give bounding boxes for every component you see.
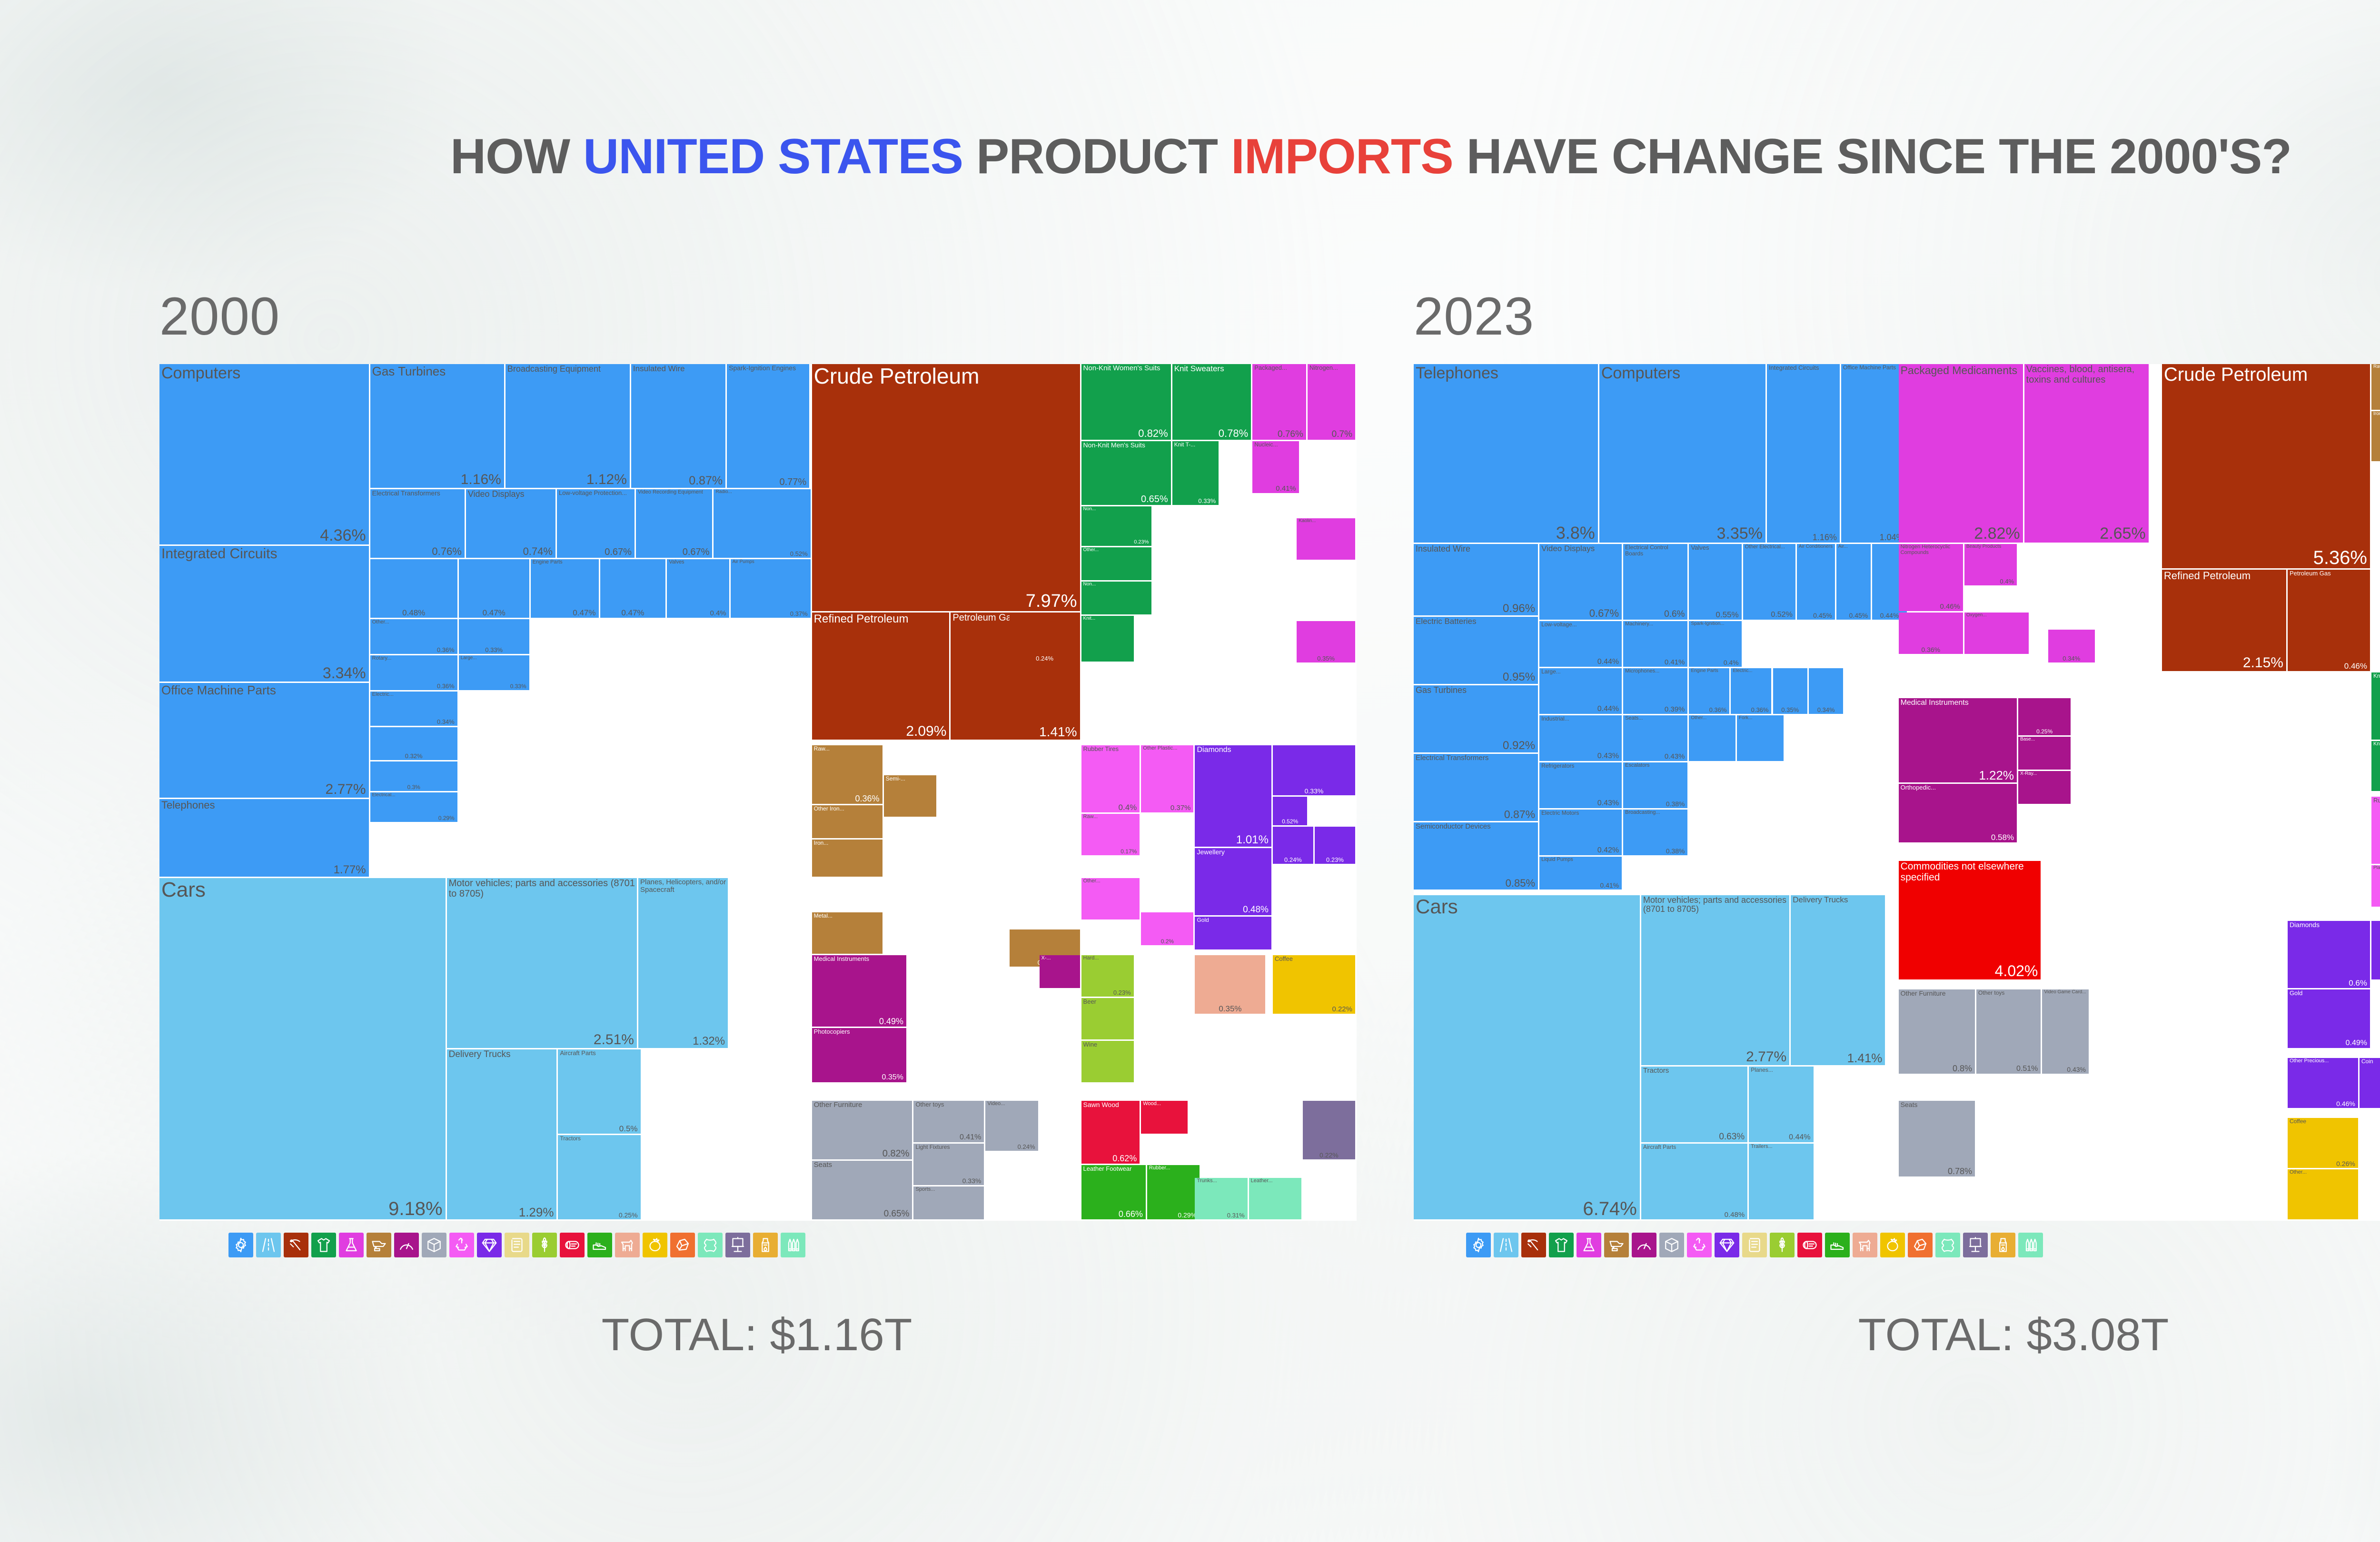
treemap-cell[interactable]: Medical Instruments1.22% — [1899, 698, 2017, 782]
treemap-cell-value: 0.76% — [1252, 430, 1303, 439]
treemap-cell[interactable]: Nitrogen...0.7% — [1308, 364, 1355, 440]
treemap-cell-label: Electrical Transformers — [372, 490, 463, 497]
treemap-cell[interactable]: Refined Petroleum2.09% — [812, 613, 950, 740]
bullets-icon[interactable] — [781, 1233, 805, 1257]
treemap-cell-label: Photocopiers — [814, 1028, 905, 1035]
treemap-cell[interactable]: Video Recording Equipment0.67% — [636, 489, 712, 558]
treemap-cell[interactable]: Integrated Circuits3.34% — [159, 546, 369, 682]
treemap-cell[interactable]: Non-Knit Women's Suits0.82% — [1081, 364, 1171, 440]
treemap-cell[interactable]: Other...0.36% — [370, 619, 457, 654]
treemap-cell[interactable]: Large...0.44% — [1539, 668, 1622, 714]
treemap-cell[interactable]: Other toys0.41% — [913, 1101, 984, 1142]
treemap-cell-label: Insulated Wire — [633, 365, 724, 373]
treemap-cell-label: Electrical Control Boards — [1625, 544, 1686, 557]
treemap-cell-value: 0.48% — [1641, 1211, 1745, 1218]
treemap-cell[interactable]: Non...0.23% — [1081, 506, 1152, 546]
easel-icon[interactable] — [725, 1233, 750, 1257]
treemap-cell[interactable]: 0.43% — [2371, 921, 2380, 979]
treemap-cell[interactable]: Other toys0.51% — [1976, 989, 2041, 1074]
treemap-cell[interactable]: 0.36% — [1899, 613, 1963, 654]
treemap-cell-label: Raw... — [2373, 365, 2380, 370]
treemap-cell-label: Sports... — [915, 1187, 982, 1193]
treemap-cell[interactable]: Motor vehicles; parts and accessories (8… — [1641, 895, 1789, 1065]
treemap-cell-label: Oxygen... — [1966, 613, 2027, 618]
bottle-icon[interactable] — [753, 1233, 778, 1257]
treemap-cell[interactable]: Crude Petroleum5.36% — [2162, 364, 2370, 568]
treemap-cell-value: 0.45% — [1797, 612, 1832, 619]
treemap-cell[interactable]: Seats0.78% — [1899, 1101, 1975, 1176]
bottle-icon[interactable] — [1991, 1233, 2015, 1257]
treemap-cell-value: 0.58% — [1899, 833, 2014, 841]
treemap-cell[interactable]: Tractors0.63% — [1641, 1067, 1747, 1142]
treemap-cell[interactable]: Knit T-...0.33% — [1172, 441, 1219, 505]
treemap-cell[interactable]: Other Iron... — [812, 805, 883, 838]
treemap-cell[interactable]: Beauty Products0.4% — [1964, 544, 2017, 585]
box-icon[interactable] — [422, 1233, 446, 1257]
treemap-cell[interactable]: Hard...0.23% — [1081, 955, 1134, 997]
treemap-cell[interactable]: X-... — [1040, 955, 1080, 988]
treemap-cell[interactable]: Knit T-...0.22% — [2371, 741, 2380, 791]
treemap-cell[interactable]: Engine Parts0.47% — [531, 559, 599, 618]
treemap-cell-value: 0.39% — [1623, 706, 1685, 713]
leather-icon[interactable] — [698, 1233, 723, 1257]
wheat-icon[interactable] — [532, 1233, 557, 1257]
treemap-cell-value: 0.23% — [2371, 900, 2380, 906]
treemap-cell-value: 0.36% — [1689, 707, 1726, 713]
treemap-cell-label: Machinery... — [1625, 622, 1686, 627]
treemap-cell[interactable]: X-Ray... — [2018, 771, 2071, 804]
treemap-cell[interactable]: Other Furniture0.82% — [812, 1101, 912, 1159]
treemap-cell[interactable]: Leather Footwear0.66% — [1081, 1165, 1146, 1219]
treemap-cell[interactable]: Electric...0.36% — [1731, 668, 1771, 714]
treemap-cell[interactable]: Oxygen... — [1964, 613, 2029, 654]
treemap-cell[interactable]: Diamonds1.01% — [1195, 745, 1271, 847]
treemap-cell-label: Coffee — [1275, 956, 1354, 962]
treemap-cell-value: 0.41% — [1539, 882, 1619, 889]
treemap-cell[interactable]: Medical Instruments0.49% — [812, 955, 906, 1027]
treemap-cell[interactable]: Coffee0.26% — [2288, 1118, 2358, 1168]
treemap-cell[interactable]: Semiconductor Devices0.85% — [1414, 822, 1538, 890]
treemap-cell[interactable]: Aircraft Parts0.48% — [1641, 1144, 1747, 1219]
treemap-cell-value: 0.96% — [1414, 603, 1535, 614]
box-icon[interactable] — [1659, 1233, 1684, 1257]
treemap-cell[interactable]: Computers4.36% — [159, 364, 369, 544]
treemap-cell-value: 0.35% — [1297, 655, 1355, 662]
treemap-cell[interactable]: Nucleic...0.41% — [1252, 441, 1299, 493]
treemap-cell[interactable]: Leather... — [1249, 1178, 1301, 1219]
easel-icon[interactable] — [1963, 1233, 1988, 1257]
treemap-cell[interactable]: Insulated Wire0.96% — [1414, 544, 1538, 615]
treemap-cell-value: 0.34% — [1809, 707, 1843, 713]
treemap-cell[interactable]: Nitrogen Heterocyclic Compounds0.46% — [1899, 544, 1963, 611]
treemap-cell[interactable]: Planes, Helicopters, and/or Spacecraft1.… — [638, 878, 728, 1048]
tshirt-icon[interactable] — [1549, 1233, 1574, 1257]
treemap-cell[interactable]: Low-voltage...0.44% — [1539, 621, 1622, 667]
treemap-cell[interactable]: Rubber Tires0.4% — [1081, 745, 1140, 812]
treemap-cell[interactable]: Tractors0.25% — [558, 1135, 640, 1219]
treemap-cell[interactable]: Valves0.55% — [1689, 544, 1741, 620]
treemap-cell-label: Engine Parts — [533, 560, 597, 565]
treemap-cell-value: 0.62% — [1081, 1154, 1137, 1163]
treemap-cell[interactable]: 0.25% — [2018, 698, 2071, 735]
treemap-cell[interactable]: Non-Knit Men's Suits0.65% — [1081, 441, 1171, 505]
treemap-cell[interactable]: Air Conditioners0.45% — [1797, 544, 1835, 620]
treemap-cell[interactable]: Raw...0.36% — [812, 745, 883, 804]
treemap-cell[interactable]: Telephones1.77% — [159, 799, 369, 877]
treemap-cell[interactable]: Refrigerators0.43% — [1539, 762, 1622, 808]
treemap-cell[interactable]: Seats...0.43% — [1623, 715, 1687, 761]
treemap-cell-label: Insulated Wire — [1416, 544, 1537, 554]
treemap-cell[interactable]: Vaccines, blood, antisera, toxins and cu… — [2024, 364, 2149, 543]
treemap-cell-label: Wood... — [1143, 1101, 1186, 1107]
treemap-cell-label: Tractors — [1643, 1067, 1746, 1075]
gauge-icon[interactable] — [394, 1233, 419, 1257]
treemap-cell-value: 0.23% — [1081, 540, 1149, 545]
treemap-cell[interactable]: Engine Parts0.36% — [1689, 668, 1729, 714]
treemap-cell[interactable]: Knit... — [1081, 616, 1134, 662]
treemap-cell[interactable]: Industrial...0.43% — [1539, 715, 1622, 761]
treemap-cell-label: Large... — [1541, 669, 1620, 675]
treemap-2023[interactable]: Telephones3.8%Computers3.35%Integrated C… — [1414, 364, 2380, 1221]
treemap-cell-label: Semiconductor Devices — [1416, 823, 1537, 830]
treemap-cell-label: Trunks... — [1197, 1178, 1246, 1184]
treemap-cell-label: Telephones — [161, 800, 367, 811]
treemap-cell-value: 0.82% — [812, 1149, 910, 1158]
treemap-2000[interactable]: Computers4.36%Integrated Circuits3.34%Of… — [159, 364, 1357, 1221]
treemap-cell[interactable]: Microphones...0.39% — [1623, 668, 1687, 714]
treemap-cell[interactable]: 0.35% — [1297, 621, 1355, 662]
treemap-cell-value: 0.59% — [2371, 854, 2380, 863]
flask-icon[interactable] — [1577, 1233, 1601, 1257]
treemap-cell-label: Other toys — [1978, 990, 2039, 996]
bullets-icon[interactable] — [2018, 1233, 2043, 1257]
treemap-cell[interactable]: 0.35% — [1195, 955, 1265, 1014]
treemap-cell-value: 2.77% — [1641, 1050, 1786, 1064]
treemap-cell-label: Semi-... — [886, 776, 935, 782]
treemap-cell[interactable]: Spark-Ignition Engines0.77% — [727, 364, 809, 488]
treemap-cell-label: Valves — [1691, 544, 1740, 551]
treemap-cell[interactable]: Large...0.33% — [459, 655, 529, 690]
treemap-cell[interactable]: 0.3% — [370, 761, 457, 791]
treemap-cell-label: Packaged Medicaments — [1901, 365, 2022, 376]
treemap-cell[interactable]: Trunks...0.31% — [1195, 1178, 1247, 1219]
treemap-cell-label: Knit Sweaters — [1174, 365, 1250, 373]
leather-icon[interactable] — [1935, 1233, 1960, 1257]
treemap-cell-label: Other... — [1691, 716, 1734, 721]
treemap-cell-label: Knit T-... — [2373, 741, 2380, 747]
treemap-cell-value: 0.46% — [2288, 1100, 2355, 1107]
recycle-icon[interactable] — [1687, 1233, 1712, 1257]
treemap-cell-value: 0.38% — [1623, 848, 1685, 854]
flask-icon[interactable] — [339, 1233, 364, 1257]
treemap-cell-value: 0.4% — [667, 610, 726, 617]
scroll-icon[interactable] — [505, 1233, 529, 1257]
treemap-cell[interactable]: 0.35% — [1773, 668, 1807, 714]
treemap-cell[interactable]: 0.52% — [1273, 797, 1307, 825]
treemap-cell-label: Rubber... — [1149, 1166, 1198, 1171]
wheat-icon[interactable] — [1770, 1233, 1795, 1257]
treemap-cell-label: Integrated Circuits — [1769, 365, 1838, 371]
treemap-cell[interactable]: Iron... — [812, 840, 883, 877]
treemap-cell-label: Medical Instruments — [1901, 699, 2016, 707]
treemap-cell[interactable]: 0.48% — [370, 559, 457, 618]
treemap-cell[interactable]: Air Pumps0.37% — [731, 559, 811, 618]
treemap-cell[interactable]: Integrated Circuits1.16% — [1767, 364, 1840, 543]
treemap-cell-label: Non-Knit Women's Suits — [1083, 365, 1170, 372]
treemap-cell[interactable]: Machinery...0.41% — [1623, 621, 1687, 667]
treemap-cell[interactable]: Delivery Trucks1.41% — [1791, 895, 1885, 1065]
treemap-cell[interactable]: Aircraft Parts0.5% — [558, 1049, 640, 1134]
treemap-cell[interactable]: Planes...0.44% — [1749, 1067, 1813, 1142]
treemap-cell[interactable]: Kaolin... — [1297, 518, 1355, 560]
treemap-cell-value: 0.49% — [2288, 1039, 2367, 1047]
treemap-cell[interactable]: 0.32% — [370, 727, 457, 760]
treemap-cell[interactable]: 0.24% — [1010, 613, 1080, 662]
treemap-cell-value: 2.09% — [812, 724, 947, 739]
treemap-cell[interactable]: Rotary...0.36% — [370, 655, 457, 690]
treemap-cell[interactable]: Other Precious...0.46% — [2288, 1058, 2358, 1108]
treemap-cell[interactable]: Non... — [1081, 582, 1152, 614]
treemap-cell-value: 0.23% — [1315, 857, 1355, 863]
treemap-cell-value: 0.78% — [1172, 428, 1249, 439]
treemap-cell[interactable]: Packaged Medicaments2.82% — [1899, 364, 2023, 543]
treemap-cell-label: Cars — [161, 879, 444, 901]
treemap-cell[interactable]: 0.23% — [1315, 827, 1355, 864]
treemap-cell[interactable]: Photocopiers0.35% — [812, 1028, 906, 1082]
treemap-cell-label: Office Machine Parts — [161, 683, 367, 697]
treemap-cell[interactable]: 0.47% — [459, 559, 529, 618]
treemap-cell-label: Leather Footwear — [1083, 1166, 1144, 1172]
shoe-icon[interactable] — [1825, 1233, 1850, 1257]
treemap-cell[interactable]: Electrical Control Boards0.6% — [1623, 544, 1687, 620]
shoe-icon[interactable] — [587, 1233, 612, 1257]
treemap-cell[interactable]: Orthopedic...0.58% — [1899, 784, 2017, 842]
treemap-cell[interactable]: Other Electrical...0.52% — [1743, 544, 1795, 620]
treemap-cell[interactable]: Electrical Transformers0.87% — [1414, 754, 1538, 821]
treemap-cell-value: 0.45% — [1836, 612, 1868, 619]
treemap-cell[interactable]: Other... — [1689, 715, 1735, 761]
treemap-cell[interactable]: 0.22% — [1303, 1101, 1355, 1159]
treemap-cell-value: 0.85% — [1414, 878, 1535, 889]
treemap-cell[interactable]: Base... — [2018, 737, 2071, 770]
treemap-cell-value: 0.78% — [1899, 1167, 1972, 1176]
treemap-cell[interactable]: Video Displays0.74% — [466, 489, 555, 558]
treemap-cell[interactable]: Computers3.35% — [1599, 364, 1765, 543]
treemap-cell-label: Video Displays — [468, 490, 554, 499]
treemap-cell[interactable]: 0.34% — [1809, 668, 1843, 714]
treemap-cell[interactable]: Escalators0.38% — [1623, 762, 1687, 808]
treemap-cell[interactable]: Video...0.24% — [985, 1101, 1038, 1151]
treemap-cell[interactable]: Refined Petroleum2.15% — [2162, 570, 2286, 671]
treemap-cell[interactable]: 0.33% — [1273, 745, 1355, 795]
treemap-cell-value: 0.22% — [1303, 1152, 1355, 1158]
treemap-cell[interactable]: 0.47% — [600, 559, 666, 618]
pickaxe-icon[interactable] — [1521, 1233, 1546, 1257]
treemap-cell[interactable]: Air...0.45% — [1836, 544, 1871, 620]
treemap-cell-label: Low-voltage Protection... — [559, 490, 633, 496]
gauge-icon[interactable] — [1632, 1233, 1656, 1257]
treemap-cell[interactable]: Trailers... — [1749, 1144, 1813, 1219]
treemap-cell[interactable]: Gold0.49% — [2288, 989, 2370, 1048]
treemap-cell[interactable]: Raw...0.17% — [1081, 814, 1140, 855]
treemap-cell-label: Refined Petroleum — [814, 613, 948, 625]
treemap-cell[interactable]: Wine — [1081, 1041, 1134, 1082]
road-icon[interactable] — [1494, 1233, 1518, 1257]
treemap-cell[interactable]: Other... — [2288, 1169, 2358, 1219]
treemap-cell[interactable]: Other Plastic...0.37% — [1141, 745, 1193, 812]
treemap-cell-label: Knit T-... — [1174, 442, 1218, 448]
treemap-cell-label: Radio... — [715, 490, 809, 495]
treemap-cell[interactable]: Rubber Tires0.59% — [2371, 797, 2380, 864]
treemap-cell[interactable]: 0.24% — [1273, 827, 1313, 864]
panel-year-label-2000: 2000 — [159, 286, 280, 347]
treemap-cell-value: 0.7% — [1308, 430, 1352, 439]
treemap-cell[interactable]: Broadcasting Equipment1.12% — [506, 364, 630, 488]
treemap-cell-label: Metal... — [814, 913, 881, 919]
treemap-cell-label: Aircraft Parts — [560, 1050, 639, 1057]
treemap-cell-value: 5.36% — [2162, 548, 2367, 567]
treemap-cell[interactable]: Valves0.4% — [667, 559, 729, 618]
cow-icon[interactable] — [615, 1233, 640, 1257]
treemap-cell[interactable]: Telephones3.8% — [1414, 364, 1598, 543]
treemap-cell[interactable]: Cars9.18% — [159, 878, 446, 1219]
log-icon[interactable] — [1797, 1233, 1822, 1257]
treemap-cell-label: Base... — [2020, 737, 2069, 742]
treemap-cell-label: Leather... — [1251, 1178, 1300, 1184]
scroll-icon[interactable] — [1742, 1233, 1767, 1257]
treemap-cell[interactable]: Plastic...0.23% — [2371, 865, 2380, 907]
treemap-cell[interactable]: Petroleum Gas0.46% — [2288, 570, 2370, 671]
treemap-cell-label: Rotary... — [372, 656, 456, 662]
treemap-cell[interactable]: Coin — [2360, 1058, 2380, 1108]
gear-icon[interactable] — [228, 1233, 253, 1257]
treemap-cell[interactable]: Coffee0.22% — [1273, 955, 1355, 1014]
treemap-cell[interactable]: Electric...0.34% — [370, 692, 457, 726]
treemap-cell[interactable]: Video Game Card...0.43% — [2042, 989, 2089, 1074]
treemap-cell-label: Non... — [1083, 582, 1150, 587]
treemap-cell[interactable]: 0.34% — [2048, 630, 2095, 662]
treemap-cell-label: Video Game Card... — [2044, 990, 2087, 995]
treemap-cell[interactable]: Insulated Wire0.87% — [631, 364, 725, 488]
treemap-cell[interactable]: Other Furniture0.8% — [1899, 989, 1975, 1074]
treemap-cell-value: 0.52% — [714, 551, 807, 557]
treemap-cell[interactable]: Other... — [1081, 878, 1140, 919]
recycle-icon[interactable] — [449, 1233, 474, 1257]
treemap-cell-label: Other Precious... — [2290, 1058, 2357, 1064]
treemap-cell[interactable]: Knit Sweaters0.78% — [1172, 364, 1251, 440]
treemap-cell-label: Nitrogen... — [1309, 365, 1354, 371]
treemap-cell[interactable]: Commodities not elsewhere specified4.02% — [1899, 861, 2041, 979]
treemap-cell[interactable]: Video Displays0.67% — [1539, 544, 1622, 620]
anvil-icon[interactable] — [1604, 1233, 1629, 1257]
treemap-cell[interactable]: Packaged...0.76% — [1252, 364, 1306, 440]
treemap-cell[interactable]: Low-voltage Protection...0.67% — [557, 489, 635, 558]
treemap-cell-label: Computers — [161, 365, 367, 382]
diamond-icon[interactable] — [477, 1233, 502, 1257]
treemap-cell[interactable]: Wood... — [1141, 1101, 1188, 1134]
treemap-cell-value: 2.77% — [159, 782, 366, 797]
treemap-cell-value: 1.41% — [1791, 1052, 1882, 1064]
treemap-cell[interactable]: Metal... — [812, 912, 883, 954]
treemap-cell-value: 1.04% — [1841, 533, 1904, 542]
treemap-cell[interactable]: Raw...0.38% — [2371, 364, 2380, 410]
gear-icon[interactable] — [1466, 1233, 1491, 1257]
treemap-cell-value: 0.25% — [2018, 729, 2071, 734]
treemap-cell[interactable]: Diamonds0.6% — [2288, 921, 2370, 988]
treemap-cell[interactable]: Rubber...0.29% — [1147, 1165, 1200, 1219]
treemap-cell-value: 0.49% — [812, 1017, 903, 1026]
treemap-cell-value: 0.5% — [558, 1125, 637, 1133]
treemap-cell-label: Escalators — [1625, 763, 1686, 769]
treemap-cell-label: Knit... — [1083, 616, 1132, 622]
pickaxe-icon[interactable] — [284, 1233, 308, 1257]
cow-icon[interactable] — [1853, 1233, 1877, 1257]
diamond-icon[interactable] — [1715, 1233, 1739, 1257]
treemap-cell[interactable]: Office Machine Parts2.77% — [159, 683, 369, 798]
treemap-cell[interactable]: Office Machine Parts1.04% — [1841, 364, 1907, 543]
treemap-cell-value: 0.47% — [531, 609, 596, 617]
treemap-cell[interactable]: Sawn Wood0.62% — [1081, 1101, 1140, 1164]
treemap-cell-label: Planes... — [1751, 1067, 1812, 1073]
treemap-cell-label: Coin — [2361, 1058, 2380, 1065]
treemap-cell[interactable]: Jewellery0.48% — [1195, 848, 1271, 915]
treemap-cell-label: Other Furniture — [1901, 990, 1973, 997]
road-icon[interactable] — [256, 1233, 281, 1257]
treemap-cell[interactable]: Electrical Transformers0.76% — [370, 489, 465, 558]
treemap-cell-value: 0.44% — [1539, 705, 1619, 713]
treemap-cell[interactable]: 0.2% — [1141, 912, 1193, 945]
treemap-cell[interactable]: Electric Motors0.42% — [1539, 810, 1622, 855]
log-icon[interactable] — [560, 1233, 585, 1257]
treemap-cell[interactable]: Delivery Trucks1.29% — [447, 1049, 557, 1219]
treemap-cell[interactable]: Sports... — [913, 1186, 984, 1219]
treemap-cell[interactable]: Seats0.65% — [812, 1161, 912, 1219]
treemap-cell[interactable]: Knit Sweaters0.42% — [2371, 672, 2380, 740]
treemap-cell[interactable]: Other... — [1081, 547, 1152, 580]
treemap-cell[interactable]: Semi-... — [884, 775, 936, 817]
tshirt-icon[interactable] — [311, 1233, 336, 1257]
rock-icon[interactable] — [670, 1233, 695, 1257]
treemap-cell[interactable]: Fork... — [1737, 715, 1784, 761]
treemap-cell[interactable]: Broadcasting...0.38% — [1623, 810, 1687, 855]
treemap-cell[interactable]: Liquid Pumps0.41% — [1539, 857, 1622, 890]
treemap-cell[interactable]: Motor vehicles; parts and accessories (8… — [447, 878, 637, 1048]
treemap-cell[interactable]: Spark-Ignition...0.4% — [1689, 621, 1741, 667]
treemap-cell-label: Vaccines, blood, antisera, toxins and cu… — [2026, 365, 2147, 385]
treemap-cell[interactable]: Gold — [1195, 917, 1271, 949]
treemap-cell[interactable]: Gas Turbines1.16% — [370, 364, 504, 488]
tomato-icon[interactable] — [1880, 1233, 1905, 1257]
treemap-cell[interactable]: Electric Batteries0.95% — [1414, 617, 1538, 684]
treemap-cell[interactable]: Cars6.74% — [1414, 895, 1640, 1219]
treemap-cell[interactable]: Beer — [1081, 998, 1134, 1039]
treemap-cell-value: 0.23% — [1081, 989, 1131, 996]
treemap-cell[interactable]: Crude Petroleum7.97% — [812, 364, 1080, 611]
rock-icon[interactable] — [1908, 1233, 1933, 1257]
treemap-cell[interactable]: Gas Turbines0.92% — [1414, 685, 1538, 752]
treemap-cell-label: Fork... — [1739, 716, 1782, 721]
treemap-cell[interactable]: Iron... — [2371, 411, 2380, 461]
treemap-cell[interactable]: Radio...0.52% — [714, 489, 810, 558]
treemap-cell-value: 0.66% — [1081, 1210, 1143, 1218]
treemap-cell[interactable]: Light Fixtures0.33% — [913, 1144, 984, 1185]
treemap-cell-value: 3.35% — [1599, 525, 1763, 542]
treemap-cell-value: 0.41% — [1252, 485, 1296, 492]
treemap-cell[interactable]: 0.33% — [459, 619, 529, 654]
anvil-icon[interactable] — [367, 1233, 391, 1257]
tomato-icon[interactable] — [643, 1233, 667, 1257]
treemap-cell[interactable]: Electrical...0.29% — [370, 792, 457, 822]
